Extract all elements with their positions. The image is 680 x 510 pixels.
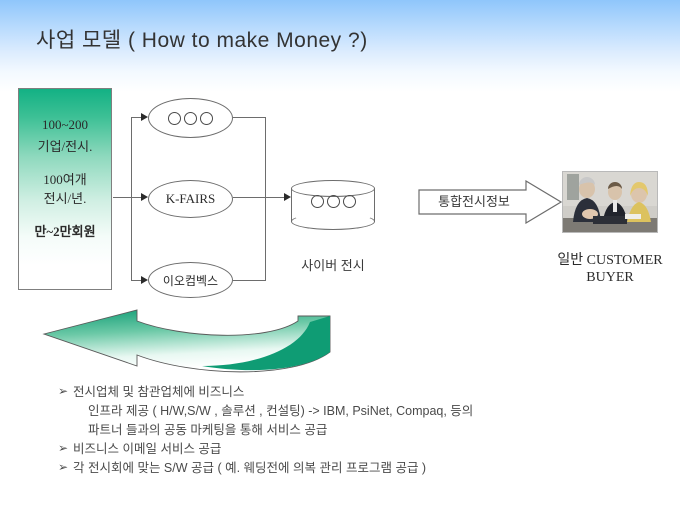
destination-caption-line1: 일반 CUSTOMER: [500, 252, 680, 269]
node-eocomvex[interactable]: 이오컴벡스: [148, 262, 233, 298]
slide-canvas: 사업 모델 ( How to make Money ?) 100~200 기업/…: [0, 0, 680, 510]
database-circles: [291, 195, 375, 208]
curved-arrow-shape: [42, 308, 332, 378]
connector-node2-out: [233, 197, 266, 198]
green-curved-arrow: [42, 308, 332, 378]
node-eocomvex-label: 이오컴벡스: [163, 272, 218, 289]
bullet-marker-icon: ➢: [58, 439, 68, 458]
integrated-info-arrow: 통합전시정보: [418, 180, 562, 224]
circle-glyph: [184, 112, 197, 125]
node-kfairs-label: K-FAIRS: [166, 191, 216, 207]
stat-line-2: 기업/전시.: [19, 136, 111, 155]
circle-glyph: [327, 195, 340, 208]
integrated-info-arrow-label: 통합전시정보: [418, 191, 530, 210]
stat-line-3: 100여개: [19, 169, 111, 188]
photo-artwork: [563, 172, 658, 233]
stat-line-5: 만~2만회원: [19, 221, 111, 240]
node-circles[interactable]: [148, 98, 233, 138]
bullet-list: ➢ 전시업체 및 참관업체에 비즈니스 인프라 제공 ( H/W,S/W , 솔…: [58, 383, 658, 478]
circle-glyph: [168, 112, 181, 125]
page-title: 사업 모델 ( How to make Money ?): [36, 24, 368, 54]
source-stats-box: 100~200 기업/전시. 100여개 전시/년. 만~2만회원: [18, 88, 112, 290]
arrowhead-branch-1: [141, 113, 148, 121]
arrowhead-branch-2: [141, 193, 148, 201]
cylinder-base: [291, 213, 375, 230]
node-kfairs[interactable]: K-FAIRS: [148, 180, 233, 218]
bullet-marker-icon: ➢: [58, 382, 68, 401]
node-circles-label: [168, 112, 213, 125]
arrowhead-branch-3: [141, 276, 148, 284]
stat-line-1: 100~200: [19, 117, 111, 133]
circle-glyph: [200, 112, 213, 125]
stat-line-4: 전시/년.: [19, 188, 111, 207]
connector-vertical-bus: [131, 117, 132, 280]
arrowhead-to-database: [284, 193, 291, 201]
list-item: ➢ 각 전시회에 맞는 S/W 공급 ( 예. 웨딩전에 의복 관리 프로그램 …: [58, 459, 658, 478]
bullet-3-line-1: 각 전시회에 맞는 S/W 공급 ( 예. 웨딩전에 의복 관리 프로그램 공급…: [73, 461, 426, 475]
business-meeting-photo: [562, 171, 658, 233]
list-item: ➢ 비즈니스 이메일 서비스 공급: [58, 440, 658, 459]
destination-caption: 일반 CUSTOMER BUYER: [500, 252, 680, 286]
bullet-1-line-3: 파트너 들과의 공동 마케팅을 통해 서비스 공급: [73, 421, 658, 440]
connector-box-to-bus: [113, 197, 132, 198]
destination-caption-line2: BUYER: [500, 269, 680, 286]
database-caption: 사이버 전시: [291, 255, 375, 274]
bullet-1-line-2: 인프라 제공 ( H/W,S/W , 솔루션 , 컨설팅) -> IBM, Ps…: [73, 402, 658, 421]
cyber-exhibition-database[interactable]: [291, 180, 375, 230]
circle-glyph: [343, 195, 356, 208]
bullet-1-line-1: 전시업체 및 참관업체에 비즈니스: [73, 385, 244, 399]
bullet-marker-icon: ➢: [58, 458, 68, 477]
connector-merge-bus: [265, 117, 266, 280]
bullet-2-line-1: 비즈니스 이메일 서비스 공급: [73, 442, 221, 456]
circle-glyph: [311, 195, 324, 208]
list-item: ➢ 전시업체 및 참관업체에 비즈니스 인프라 제공 ( H/W,S/W , 솔…: [58, 383, 658, 440]
connector-node3-out: [233, 280, 266, 281]
connector-node1-out: [233, 117, 266, 118]
